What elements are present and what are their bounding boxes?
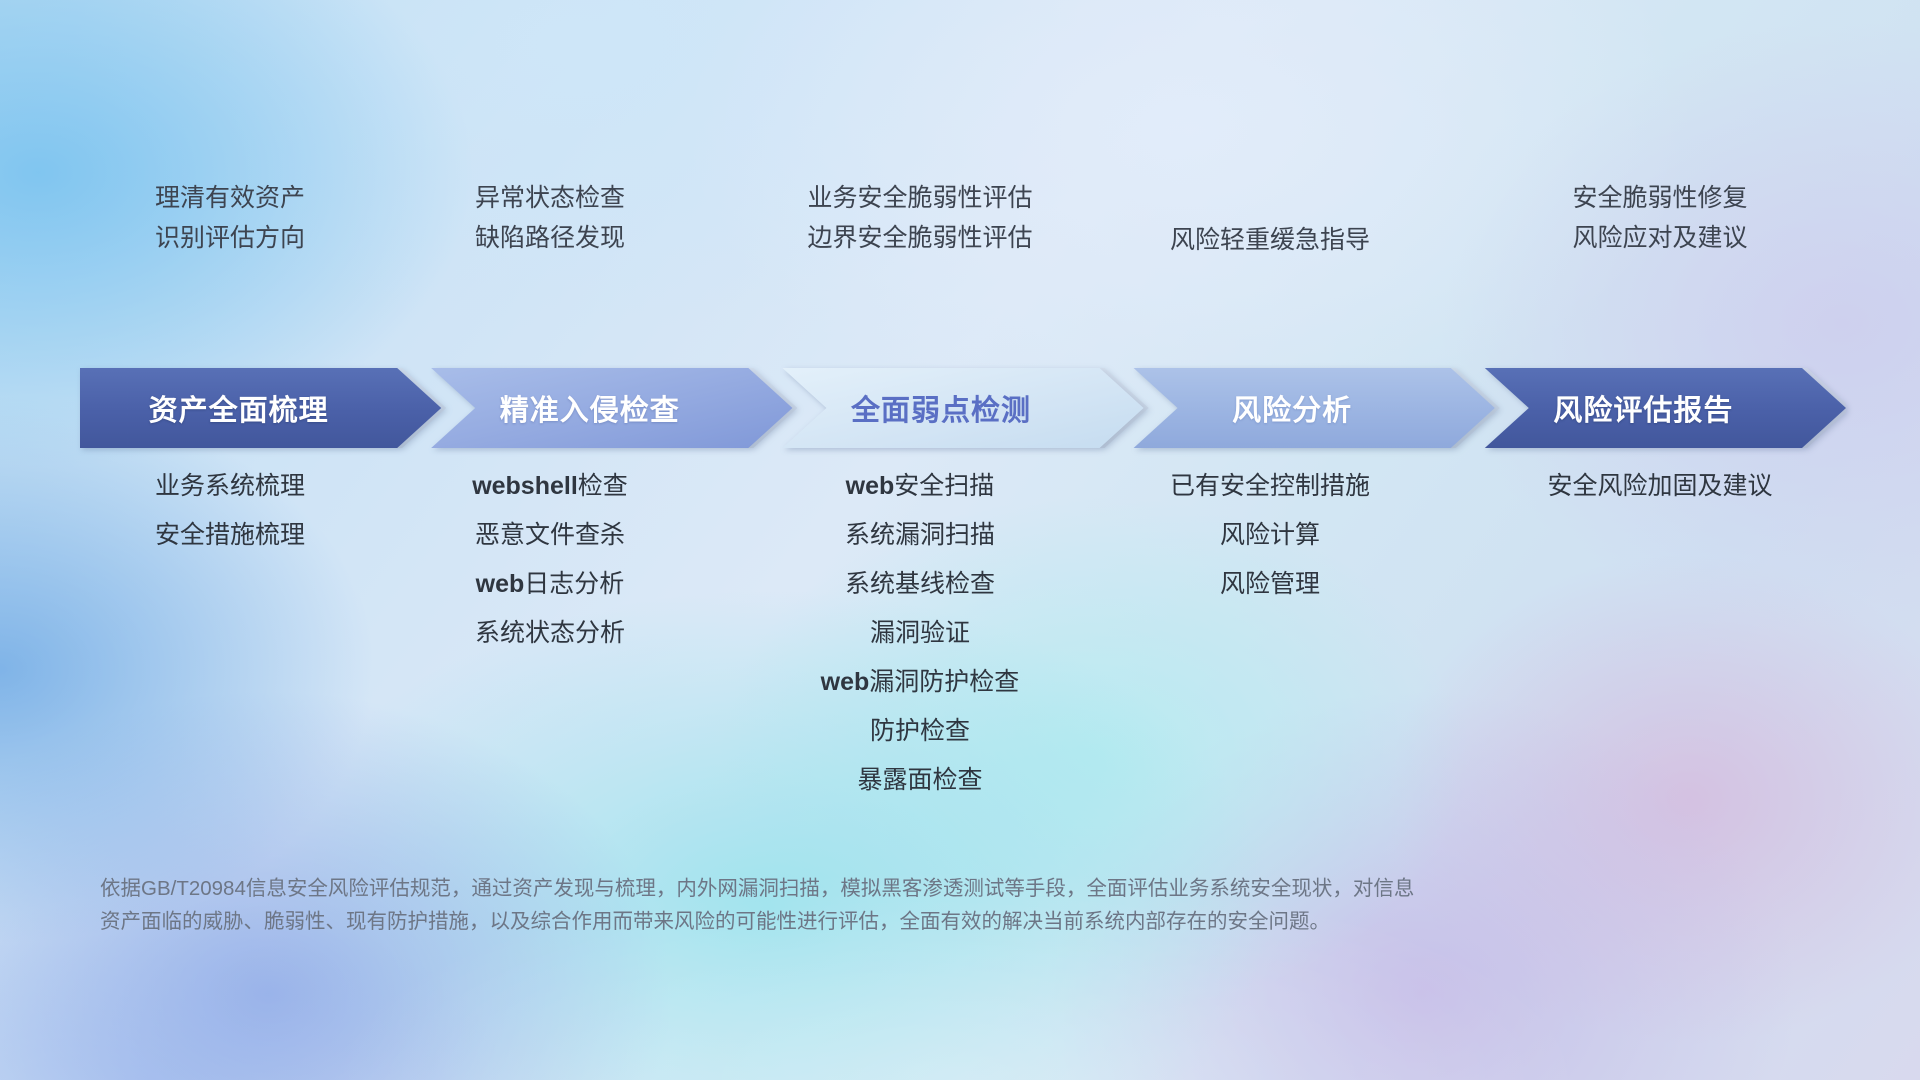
stage-items-group-5: 安全风险加固及建议 — [1480, 462, 1840, 511]
stage-item: 安全风险加固及建议 — [1480, 462, 1840, 511]
top-label-row: 理清有效资产识别评估方向异常状态检查缺陷路径发现业务安全脆弱性评估边界安全脆弱性… — [80, 178, 1840, 288]
stage-title: 风险评估报告 — [1553, 387, 1733, 429]
stage-item-keyword: webshell — [472, 472, 578, 500]
top-label: 风险轻重缓急指导 — [1120, 220, 1420, 260]
stage-item: 已有安全控制措施 — [1120, 462, 1420, 511]
stage-item: 恶意文件查杀 — [400, 511, 700, 560]
stage-item: web漏洞防护检查 — [730, 658, 1110, 707]
footer-line-2: 资产面临的威胁、脆弱性、现有防护措施，以及综合作用而带来风险的可能性进行评估，全… — [100, 905, 1620, 938]
stage-title: 资产全面梳理 — [149, 387, 329, 429]
stage-item: web日志分析 — [400, 560, 700, 609]
stage-item-keyword: web — [476, 570, 525, 598]
stage-items-group-2: webshell检查恶意文件查杀web日志分析系统状态分析 — [400, 462, 700, 658]
stage-label-3[interactable]: 全面弱点检测 — [782, 368, 1099, 448]
top-label-group-2: 异常状态检查缺陷路径发现 — [400, 178, 700, 258]
stage-item: 系统状态分析 — [400, 609, 700, 658]
stage-title: 精准入侵检查 — [500, 387, 680, 429]
stage-item: 系统基线检查 — [730, 560, 1110, 609]
top-label: 异常状态检查 — [400, 178, 700, 218]
stage-item-keyword: web — [846, 472, 895, 500]
top-label: 理清有效资产 — [80, 178, 380, 218]
stage-title: 风险分析 — [1232, 387, 1352, 429]
stage-items-group-4: 已有安全控制措施风险计算风险管理 — [1120, 462, 1420, 609]
stage-item: 防护检查 — [730, 707, 1110, 756]
stage-label-2[interactable]: 精准入侵检查 — [431, 368, 748, 448]
footer-line-1: 依据GB/T20984信息安全风险评估规范，通过资产发现与梳理，内外网漏洞扫描，… — [100, 872, 1620, 905]
top-label: 识别评估方向 — [80, 218, 380, 258]
top-label-group-3: 业务安全脆弱性评估边界安全脆弱性评估 — [730, 178, 1110, 258]
process-infographic: 理清有效资产识别评估方向异常状态检查缺陷路径发现业务安全脆弱性评估边界安全脆弱性… — [0, 0, 1920, 1080]
stage-chevron-banner: 资产全面梳理精准入侵检查全面弱点检测风险分析风险评估报告 — [80, 368, 1846, 448]
top-label-group-1: 理清有效资产识别评估方向 — [80, 178, 380, 258]
stage-item: 风险计算 — [1120, 511, 1420, 560]
top-label-group-5: 安全脆弱性修复风险应对及建议 — [1480, 178, 1840, 258]
stage-item: 风险管理 — [1120, 560, 1420, 609]
stage-item: 系统漏洞扫描 — [730, 511, 1110, 560]
stage-item: 业务系统梳理 — [80, 462, 380, 511]
top-label: 风险应对及建议 — [1480, 218, 1840, 258]
top-label: 安全脆弱性修复 — [1480, 178, 1840, 218]
stage-item: web安全扫描 — [730, 462, 1110, 511]
stage-label-1[interactable]: 资产全面梳理 — [80, 368, 397, 448]
stage-item: webshell检查 — [400, 462, 700, 511]
stage-item: 安全措施梳理 — [80, 511, 380, 560]
stage-items-group-3: web安全扫描系统漏洞扫描系统基线检查漏洞验证web漏洞防护检查防护检查暴露面检… — [730, 462, 1110, 805]
top-label: 缺陷路径发现 — [400, 218, 700, 258]
stage-label-5[interactable]: 风险评估报告 — [1485, 368, 1802, 448]
stage-label-4[interactable]: 风险分析 — [1134, 368, 1451, 448]
top-label: 边界安全脆弱性评估 — [730, 218, 1110, 258]
stage-item: 漏洞验证 — [730, 609, 1110, 658]
stage-item: 暴露面检查 — [730, 756, 1110, 805]
stage-title: 全面弱点检测 — [851, 387, 1031, 429]
top-label: 业务安全脆弱性评估 — [730, 178, 1110, 218]
stage-item-keyword: web — [821, 668, 870, 696]
top-label-group-4: 风险轻重缓急指导 — [1120, 220, 1420, 260]
stage-items-group-1: 业务系统梳理安全措施梳理 — [80, 462, 380, 560]
footer-note: 依据GB/T20984信息安全风险评估规范，通过资产发现与梳理，内外网漏洞扫描，… — [100, 872, 1620, 938]
